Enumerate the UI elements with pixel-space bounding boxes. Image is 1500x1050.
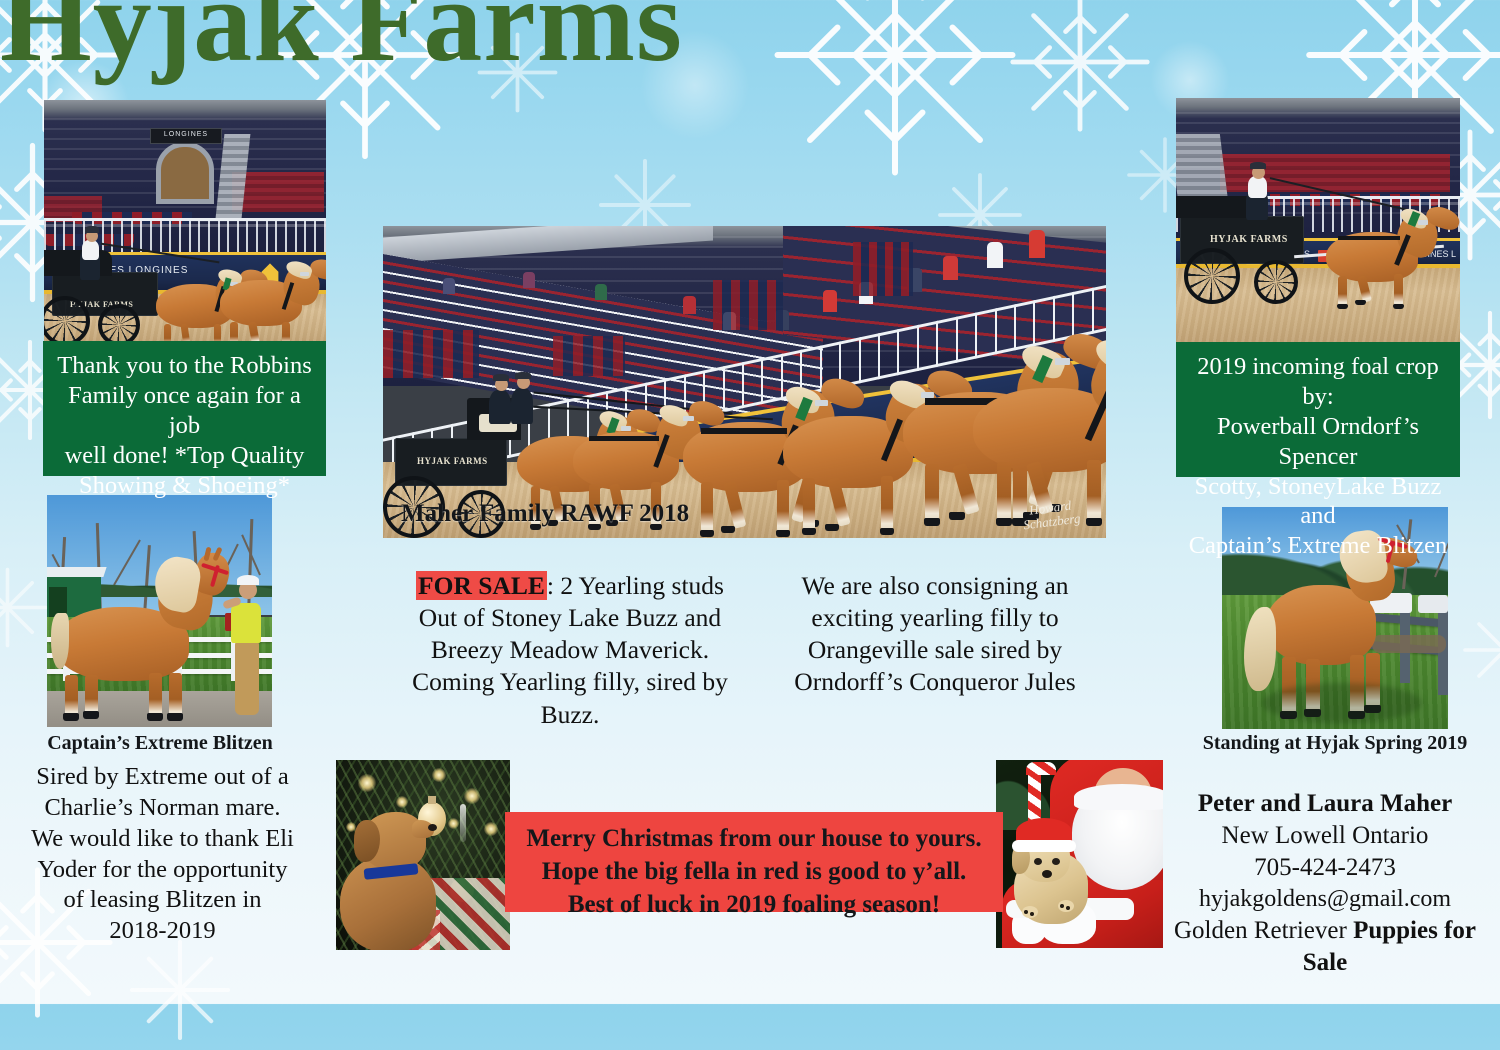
horse xyxy=(220,270,326,346)
snowflake-icon xyxy=(1455,600,1500,700)
photo-puppy-christmas-tree xyxy=(336,760,510,950)
photo-center-caption: Maher Family RAWF 2018 xyxy=(401,500,689,528)
blitzen-note-line: of leasing Blitzen in xyxy=(30,885,295,916)
blitzen-note-line: Yoder for the opportunity xyxy=(30,855,295,886)
photo-center-six-horse-hitch: ROYAL HYJAK FARMS xyxy=(383,226,1106,538)
for-sale-headline-rest: : 2 Yearling studs xyxy=(547,571,724,600)
green-box-robbins-thanks: Thank you to the Robbins Family once aga… xyxy=(43,341,326,476)
consigning-line: We are also consigning an xyxy=(770,570,1100,602)
contact-block: Peter and Laura Maher New Lowell Ontario… xyxy=(1170,788,1480,979)
wagon-farm-label: HYJAK FARMS xyxy=(417,456,488,466)
photo-top-right-hitch: Masterfeeds LONGINES FedEx getupbus LONG… xyxy=(1176,98,1460,346)
for-sale-headline: FOR SALE: 2 Yearling studs xyxy=(390,570,750,602)
contact-location: New Lowell Ontario xyxy=(1170,820,1480,852)
green-box-foal-crop: 2019 incoming foal crop by: Powerball Or… xyxy=(1176,342,1460,477)
green-box-line: Family once again for a job xyxy=(51,381,318,441)
handler xyxy=(235,639,259,715)
green-box-line: well done! *Top Quality xyxy=(51,441,318,471)
banner-line: Best of luck in 2019 foaling season! xyxy=(519,888,989,921)
photo-top-left-hitch: LONGINES S. LONGINES LONGINES HYJAK FARM… xyxy=(44,100,326,347)
green-box-line: Powerball Orndorf’s Spencer xyxy=(1184,412,1452,472)
green-box-line: Thank you to the Robbins xyxy=(51,351,318,381)
green-box-line: 2019 incoming foal crop by: xyxy=(1184,352,1452,412)
page-title-text: Hyjak Farms xyxy=(0,0,683,86)
for-sale-badge: FOR SALE xyxy=(416,571,547,600)
for-sale-line: Breezy Meadow Maverick. xyxy=(390,634,750,666)
photo-left-stallion-caption: Captain’s Extreme Blitzen xyxy=(30,732,290,755)
banner-line: Merry Christmas from our house to yours. xyxy=(519,822,989,855)
for-sale-block: FOR SALE: 2 Yearling studs Out of Stoney… xyxy=(390,570,750,731)
banner-line: Hope the big fella in red is good to y’a… xyxy=(519,855,989,888)
green-box-line: Captain’s Extreme Blitzen xyxy=(1184,531,1452,561)
contact-names: Peter and Laura Maher xyxy=(1170,788,1480,820)
green-box-line: Scotty, StoneyLake Buzz and xyxy=(1184,472,1452,532)
stallion xyxy=(55,571,255,721)
horse xyxy=(973,336,1106,522)
for-sale-line: Coming Yearling filly, sired by xyxy=(390,666,750,698)
driver xyxy=(489,390,511,424)
snowflake-icon xyxy=(120,930,240,1050)
consigning-block: We are also consigning an exciting yearl… xyxy=(770,570,1100,699)
blitzen-note-line: 2018-2019 xyxy=(30,916,295,947)
consigning-line: Orangeville sale sired by xyxy=(770,634,1100,666)
contact-email[interactable]: hyjakgoldens@gmail.com xyxy=(1170,884,1480,915)
merry-christmas-banner: Merry Christmas from our house to yours.… xyxy=(505,812,1003,912)
photo-right-stallion-caption: Standing at Hyjak Spring 2019 xyxy=(1200,732,1470,755)
for-sale-line: Buzz. xyxy=(390,699,750,731)
green-box-line: Showing & Shoeing* xyxy=(51,471,318,501)
photo-left-stallion xyxy=(47,495,272,727)
for-sale-line: Out of Stoney Lake Buzz and xyxy=(390,602,750,634)
contact-puppies-prefix: Golden Retriever xyxy=(1174,917,1353,944)
wagon-farm-label: HYJAK FARMS xyxy=(1210,234,1288,245)
blitzen-note-block: Sired by Extreme out of a Charlie’s Norm… xyxy=(30,762,295,947)
consigning-line: exciting yearling filly to xyxy=(770,602,1100,634)
blitzen-note-line: Charlie’s Norman mare. xyxy=(30,793,295,824)
contact-puppies: Golden Retriever Puppies for Sale xyxy=(1170,915,1480,979)
photo-santa-puppy xyxy=(996,760,1163,948)
consigning-line: Orndorff’s Conqueror Jules xyxy=(770,666,1100,698)
blitzen-note-line: Sired by Extreme out of a xyxy=(30,762,295,793)
blitzen-note-line: We would like to thank Eli xyxy=(30,824,295,855)
horse xyxy=(1326,210,1456,314)
contact-phone: 705-424-2473 xyxy=(1170,852,1480,884)
